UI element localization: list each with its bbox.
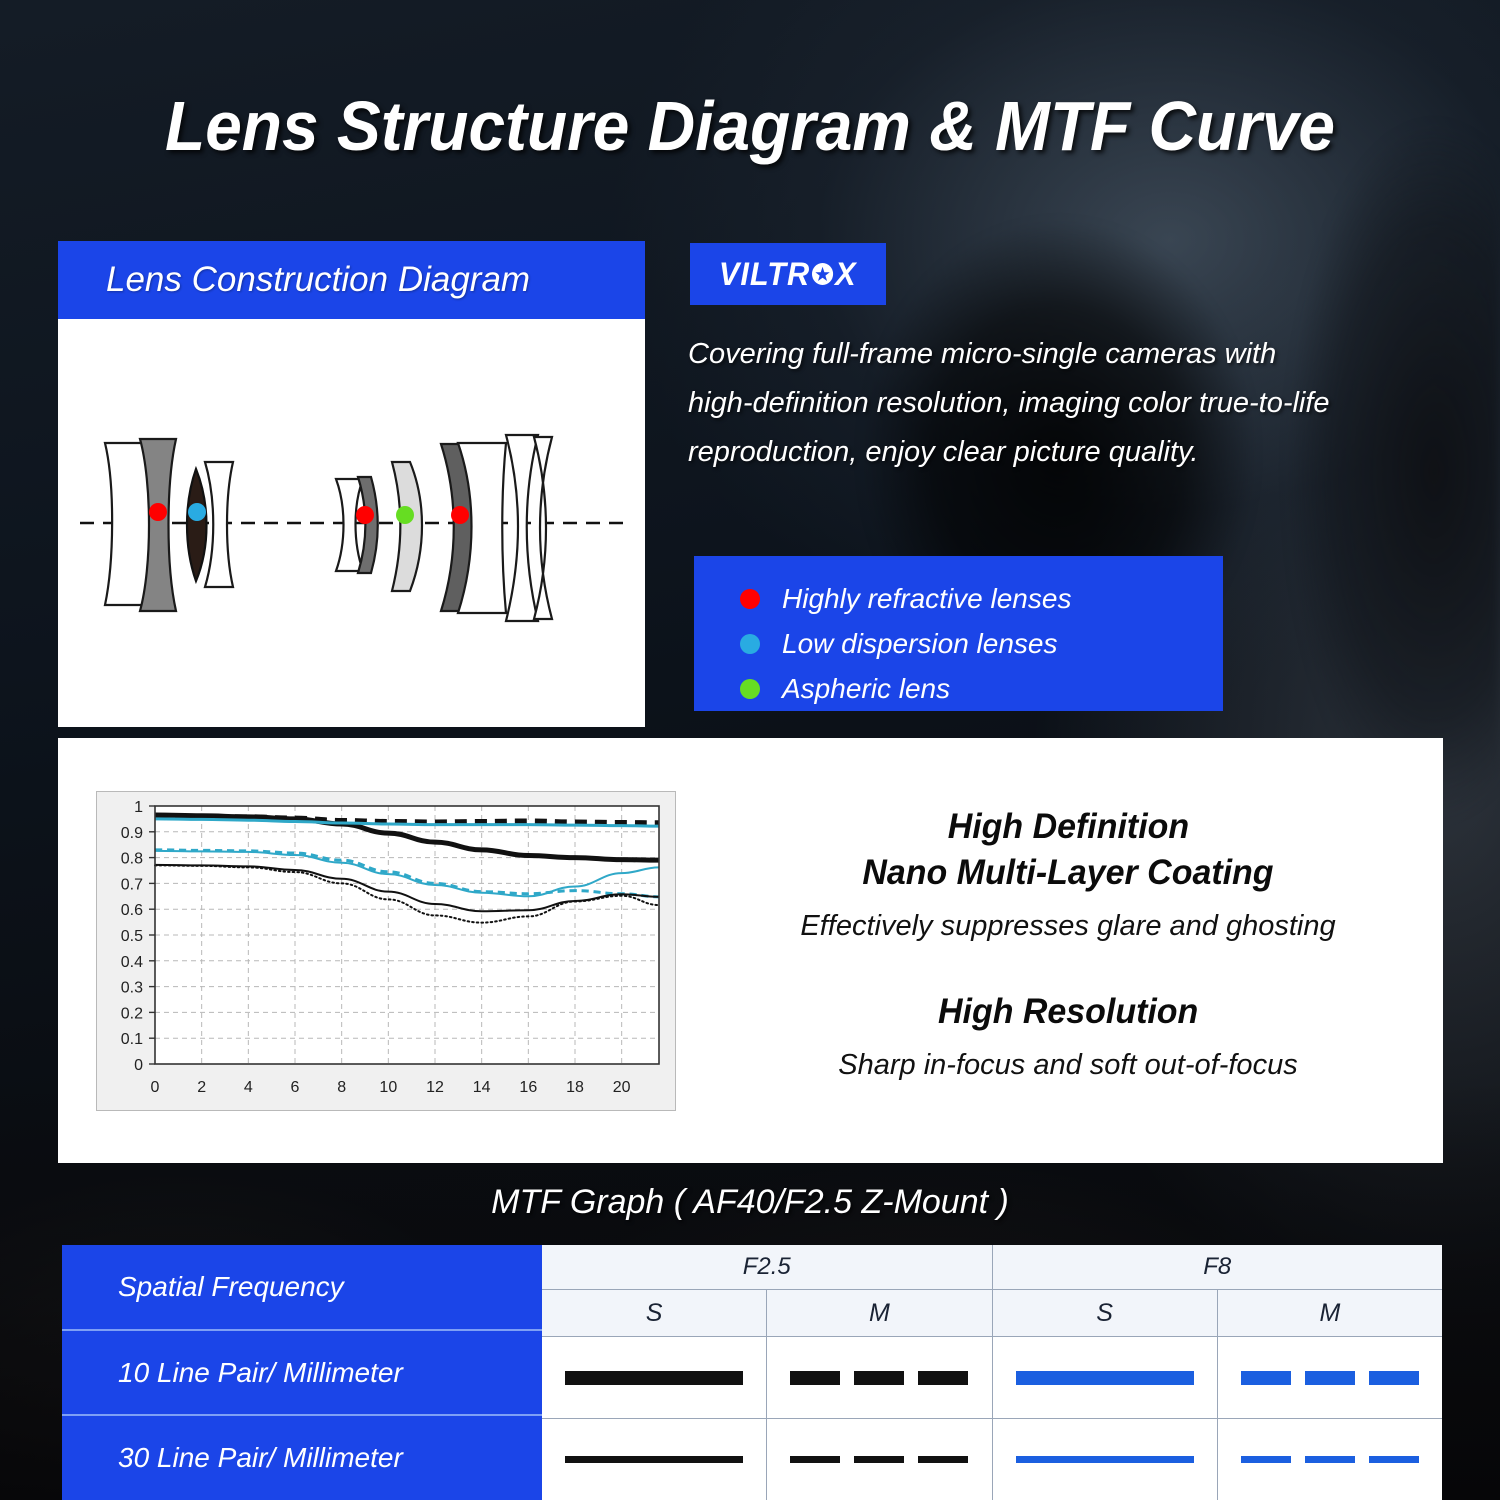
marker-red-3 [451,506,469,524]
svg-text:0.7: 0.7 [121,876,143,893]
legend-sample-f8-s-10 [993,1337,1218,1418]
svg-text:1: 1 [134,799,143,816]
svg-text:18: 18 [566,1079,584,1096]
legend-item-low-dispersion: Low dispersion lenses [740,621,1223,666]
svg-text:0.6: 0.6 [121,902,143,919]
legend-sample-f25-s-10 [542,1337,767,1418]
lens-element-3-white [336,479,363,571]
line-sample [1016,1371,1194,1385]
line-sample [565,1456,743,1463]
mtf-panel: 00.10.20.30.40.50.60.70.80.91 0246810121… [58,738,1443,1163]
marker-blue-1 [188,503,206,521]
mtf-legend-table: Spatial Frequency 10 Line Pair/ Millimet… [62,1245,1442,1500]
svg-text:16: 16 [519,1079,537,1096]
viltrox-logo: VILTR X [690,243,886,305]
lens-element-7-white [534,437,552,619]
lens-construction-card: Lens Construction Diagram [58,241,645,727]
page-title: Lens Structure Diagram & MTF Curve [45,86,1455,166]
svg-text:0: 0 [151,1079,160,1096]
legend-table-data-columns: F2.5 F8 S M S M [542,1245,1442,1500]
svg-text:14: 14 [473,1079,491,1096]
svg-text:0.2: 0.2 [121,1005,143,1022]
legend-table-col-f8-s: S [993,1290,1218,1337]
svg-text:2: 2 [197,1079,206,1096]
legend-table-group-f25: F2.5 [542,1245,993,1290]
line-sample [790,1456,968,1463]
svg-text:20: 20 [613,1079,631,1096]
viltrox-logo-text-tail: X [835,256,856,293]
lens-construction-diagram [58,319,645,727]
svg-text:0.4: 0.4 [121,954,143,971]
svg-text:0.1: 0.1 [121,1031,143,1048]
legend-sample-f8-m-30 [1218,1419,1442,1500]
legend-sample-f8-s-30 [993,1419,1218,1500]
feature-2-subtitle: Sharp in-focus and soft out-of-focus [838,1049,1297,1082]
viltrox-logo-text: VILTR [719,256,810,293]
legend-sample-f25-s-30 [542,1419,767,1500]
svg-text:0.8: 0.8 [121,851,143,868]
svg-text:8: 8 [337,1079,346,1096]
legend-label: Low dispersion lenses [782,628,1058,660]
marker-red-2 [356,506,374,524]
legend-label: Aspheric lens [782,673,950,705]
legend-item-aspheric: Aspheric lens [740,666,1223,711]
legend-table-row-label-10lpmm: 10 Line Pair/ Millimeter [62,1331,542,1417]
lens-element-2-dark [187,469,207,581]
table-row [542,1337,1442,1419]
legend-table-row-label-30lpmm: 30 Line Pair/ Millimeter [62,1416,542,1500]
feature-1-title-line1: High Definition [947,804,1188,850]
feature-text-column: High Definition Nano Multi-Layer Coating… [698,794,1438,1114]
svg-text:6: 6 [291,1079,300,1096]
legend-sample-f8-m-10 [1218,1337,1442,1418]
legend-label: Highly refractive lenses [782,583,1071,615]
lens-element-2-white [205,462,233,587]
line-sample [1241,1456,1419,1463]
line-sample [790,1371,968,1385]
legend-table-col-f8-m: M [1218,1290,1442,1337]
red-dot-icon [740,589,760,609]
svg-text:12: 12 [426,1079,444,1096]
svg-text:10: 10 [379,1079,397,1096]
legend-table-group-f8: F8 [993,1245,1443,1290]
chart-y-axis-labels: 00.10.20.30.40.50.60.70.80.91 [121,799,143,1074]
lens-element-4-light [392,462,422,591]
lens-marker-legend: Highly refractive lenses Low dispersion … [694,556,1223,711]
mtf-caption: MTF Graph ( AF40/F2.5 Z-Mount ) [0,1183,1500,1222]
feature-2-title-line1: High Resolution [938,989,1198,1035]
marker-green-1 [396,506,414,524]
legend-table-group-header-row: F2.5 F8 [542,1245,1442,1290]
legend-table-row-header: Spatial Frequency [62,1245,542,1331]
legend-table-subheader-row: S M S M [542,1290,1442,1337]
marker-red-1 [149,503,167,521]
legend-table-col-f25-s: S [542,1290,767,1337]
legend-sample-f25-m-10 [767,1337,992,1418]
lens-element-3-gray [358,477,378,573]
svg-text:0.9: 0.9 [121,825,143,842]
legend-item-highly-refractive: Highly refractive lenses [740,576,1223,621]
svg-text:0.5: 0.5 [121,928,143,945]
svg-text:0.3: 0.3 [121,980,143,997]
legend-table-label-column: Spatial Frequency 10 Line Pair/ Millimet… [62,1245,542,1500]
mtf-chart: 00.10.20.30.40.50.60.70.80.91 0246810121… [97,792,675,1110]
mtf-chart-container: 00.10.20.30.40.50.60.70.80.91 0246810121… [96,791,676,1111]
legend-sample-f25-m-30 [767,1419,992,1500]
lens-element-6-white [506,435,538,621]
product-description: Covering full-frame micro-single cameras… [688,330,1348,477]
star-icon [811,262,834,286]
lens-construction-title: Lens Construction Diagram [106,260,530,300]
svg-text:4: 4 [244,1079,253,1096]
svg-text:0: 0 [134,1057,143,1074]
legend-table-col-f25-m: M [767,1290,992,1337]
line-sample [565,1371,743,1385]
line-sample [1016,1456,1194,1463]
feature-1-title-line2: Nano Multi-Layer Coating [862,850,1273,896]
feature-1-subtitle: Effectively suppresses glare and ghostin… [800,910,1335,943]
line-sample [1241,1371,1419,1385]
blue-dot-icon [740,634,760,654]
lens-construction-header: Lens Construction Diagram [58,241,645,319]
green-dot-icon [740,679,760,699]
table-row [542,1419,1442,1500]
